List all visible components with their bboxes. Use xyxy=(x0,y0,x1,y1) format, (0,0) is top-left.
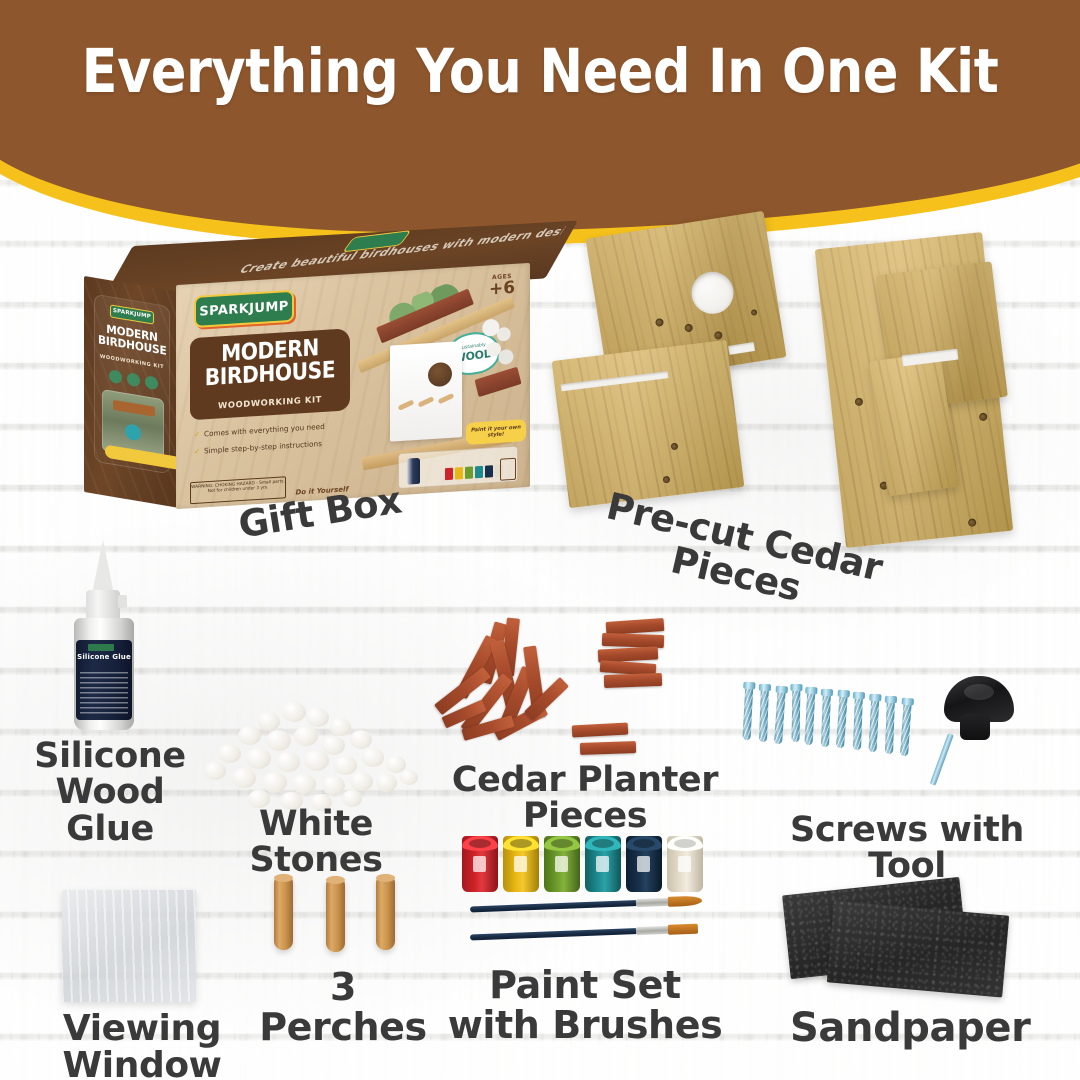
screw xyxy=(774,686,786,744)
stone xyxy=(258,712,280,731)
stone xyxy=(262,772,287,793)
cedar-screw-hole xyxy=(855,397,864,406)
gift-box-subtitle: WOODWORKING KIT xyxy=(190,392,350,412)
brush-round xyxy=(470,896,702,914)
cedar-screw-hole xyxy=(968,518,977,527)
brush-flat xyxy=(470,924,702,942)
stone xyxy=(292,774,316,794)
pot-opening xyxy=(551,839,573,848)
stone xyxy=(204,762,226,780)
pot-tab xyxy=(473,856,486,872)
caption-stones: White Stones xyxy=(200,806,432,879)
stone xyxy=(322,736,345,755)
paint-pot-teal xyxy=(585,836,621,892)
cedar-entry-hole xyxy=(688,269,736,317)
brush-handle xyxy=(470,900,638,913)
stone xyxy=(304,750,329,771)
feature-icon-3 xyxy=(145,375,158,390)
art-entry-hole xyxy=(428,362,452,388)
glue-cap xyxy=(86,590,120,620)
glue-label: Silicone Glue xyxy=(76,640,132,720)
feature-icon-2 xyxy=(127,372,140,387)
perch-dowel xyxy=(326,876,345,952)
fsc-icon xyxy=(500,458,516,481)
stone xyxy=(350,772,373,791)
included-pot-red xyxy=(445,468,453,481)
stone xyxy=(306,708,329,727)
screw xyxy=(900,698,912,756)
screws-group xyxy=(744,678,924,758)
brush-handle xyxy=(470,928,638,941)
screw xyxy=(742,682,753,740)
viewing-window-image xyxy=(62,890,196,1002)
caption-viewing-window: Viewing Window xyxy=(0,1010,288,1080)
cedar-perch-hole xyxy=(684,323,693,332)
brush-tip-flat xyxy=(668,923,698,935)
planter-single-stick xyxy=(580,741,636,755)
stone xyxy=(376,774,397,792)
paint-brushes-group xyxy=(470,898,730,954)
stone xyxy=(238,726,261,745)
screw xyxy=(791,684,800,742)
included-pot-green xyxy=(465,466,473,479)
glue-bottle-image: Silicone Glue xyxy=(62,540,148,740)
hex-tool-image xyxy=(930,676,1026,788)
art-side-planter xyxy=(474,367,521,398)
pot-opening xyxy=(674,839,696,848)
stone xyxy=(246,748,271,769)
pot-tab xyxy=(514,856,527,872)
page-title: Everything You Need In One Kit xyxy=(76,36,1005,107)
included-paint-icons xyxy=(445,465,503,481)
stone xyxy=(330,718,351,736)
gift-box-bullet: Comes with everything you need xyxy=(194,421,344,440)
stone xyxy=(322,776,345,795)
pot-tab xyxy=(678,856,691,872)
art-stones xyxy=(480,316,516,370)
stone xyxy=(334,756,357,775)
perch-dowel xyxy=(274,874,293,950)
cedar-groove xyxy=(561,371,669,391)
gift-box-title: MODERN BIRDHOUSE xyxy=(200,336,341,390)
sandpaper-sheet xyxy=(827,900,1009,997)
pot-opening xyxy=(633,839,655,848)
screw xyxy=(853,692,863,750)
glue-label-text-lines xyxy=(80,672,128,716)
pot-opening xyxy=(592,839,614,848)
screw xyxy=(885,696,895,754)
stone xyxy=(266,730,291,751)
cedar-screw-hole xyxy=(751,309,758,316)
glue-nozzle xyxy=(92,540,114,594)
paint-pot-green xyxy=(544,836,580,892)
pot-tab xyxy=(637,856,650,872)
gift-box-callout-bubble: Paint it your own style! xyxy=(466,419,526,445)
perch-dowel xyxy=(376,874,395,950)
stone xyxy=(400,770,418,785)
cedar-screw-hole xyxy=(671,443,679,451)
art-perch xyxy=(398,399,415,410)
pot-tab xyxy=(555,856,568,872)
brush-tip-round xyxy=(668,896,702,907)
stone xyxy=(218,744,241,763)
sparkjump-logo: SPARKJUMP xyxy=(194,290,294,328)
paint-pot-navy xyxy=(626,836,662,892)
stone xyxy=(232,768,256,788)
screw xyxy=(759,684,769,742)
glue-body: Silicone Glue xyxy=(74,618,134,730)
brush-ferrule xyxy=(636,897,670,907)
caption-sandpaper: Sandpaper xyxy=(790,1008,1030,1050)
caption-screws: Screws with Tool xyxy=(790,812,1024,885)
gift-box-side-panel: SPARKJUMP MODERN BIRDHOUSE WOODWORKING K… xyxy=(94,294,170,475)
included-pot-teal xyxy=(475,466,483,479)
gift-box-side-title: MODERN BIRDHOUSE xyxy=(98,321,166,357)
tool-neck xyxy=(960,714,990,740)
gift-box-side-face: SPARKJUMP MODERN BIRDHOUSE WOODWORKING K… xyxy=(84,276,180,508)
pot-opening xyxy=(469,839,491,848)
gift-box-bullet: Simple step-by-step instructions xyxy=(194,437,344,456)
paint-pot-yellow xyxy=(503,836,539,892)
stone xyxy=(276,752,300,772)
art-perch xyxy=(438,393,455,404)
gift-box-front-face: SPARKJUMP MODERN BIRDHOUSE WOODWORKING K… xyxy=(176,263,530,509)
caption-planter: Cedar Planter Pieces xyxy=(440,762,730,835)
white-stones-image xyxy=(196,700,436,812)
feature-icon-1 xyxy=(109,369,122,384)
screw xyxy=(821,689,831,747)
paint-pot-red xyxy=(462,836,498,892)
screw xyxy=(804,687,815,745)
cedar-notch xyxy=(728,342,755,355)
cedar-screw-hole xyxy=(979,413,988,422)
gift-box-title-block: MODERN BIRDHOUSE WOODWORKING KIT xyxy=(190,328,350,420)
cedar-perch-hole xyxy=(655,318,664,327)
tool-shaft xyxy=(930,733,954,786)
cedar-perch-hole xyxy=(714,331,723,340)
stone xyxy=(282,702,306,722)
caption-paint-set: Paint Set with Brushes xyxy=(440,966,730,1045)
cedar-screw-hole xyxy=(663,476,671,484)
gift-box-image: Create beautiful birdhouses with modern … xyxy=(78,246,548,506)
screw xyxy=(868,694,879,752)
paint-pot-cream xyxy=(667,836,703,892)
stone xyxy=(362,748,384,767)
stone xyxy=(294,726,318,746)
cedar-planter-pieces-image xyxy=(452,616,702,766)
brush-ferrule xyxy=(636,925,670,935)
pot-tab xyxy=(596,856,609,872)
included-pot-yellow xyxy=(455,467,463,480)
infographic-canvas: Everything You Need In One Kit Create be… xyxy=(0,0,1080,1080)
screw xyxy=(836,690,848,748)
included-pot-navy xyxy=(485,465,493,478)
caption-perches: 3 Perches xyxy=(248,968,438,1047)
stone xyxy=(350,730,372,749)
paint-pots-group xyxy=(462,836,708,892)
planter-stack-piece xyxy=(604,673,662,688)
gift-box-side-brand: SPARKJUMP xyxy=(110,304,154,324)
art-birdhouse-body xyxy=(390,341,462,442)
caption-glue: Silicone Wood Glue xyxy=(10,738,210,847)
pot-opening xyxy=(510,839,532,848)
glue-brand-mark xyxy=(88,644,114,651)
gift-box-bullets: Comes with everything you need Simple st… xyxy=(194,421,344,464)
glue-product-name: Silicone Glue xyxy=(76,653,132,661)
sparkjump-logo-text: SPARKJUMP xyxy=(196,292,292,326)
gift-box-feature-icons xyxy=(103,368,163,391)
art-perch xyxy=(418,396,435,407)
planter-single-stick xyxy=(572,723,629,738)
